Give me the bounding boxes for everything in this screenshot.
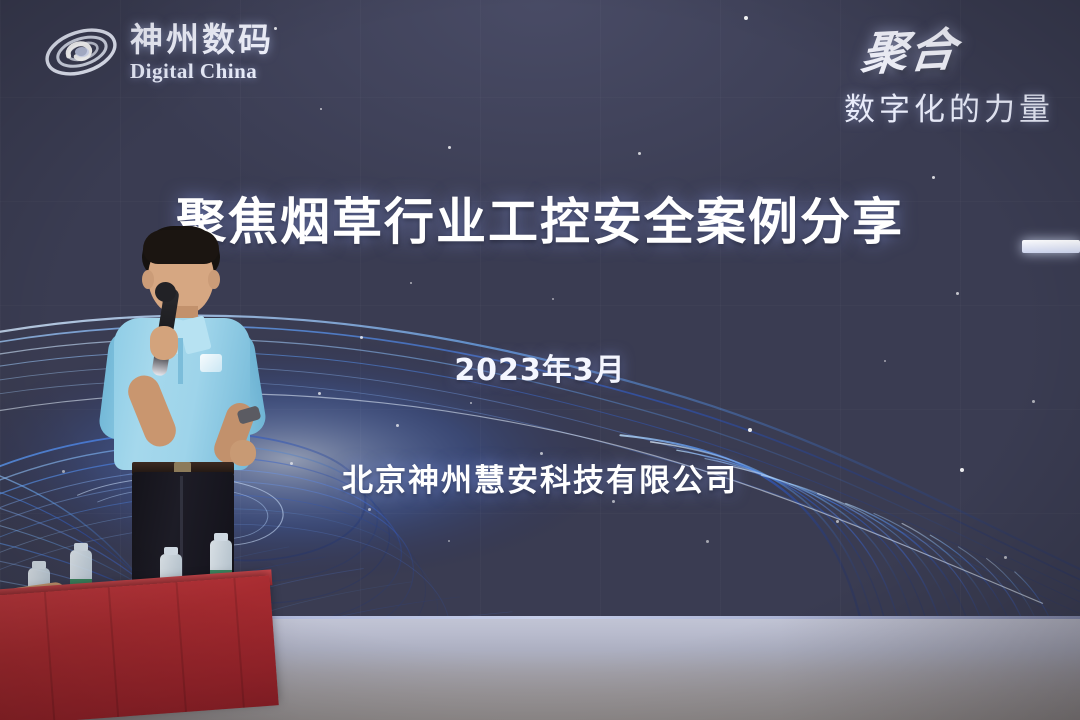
front-row-table: [0, 575, 279, 720]
slogan-brush-text: 聚合: [840, 13, 962, 85]
presenter-hand-right: [230, 440, 256, 466]
slogan-subtitle: 数字化的力量: [844, 84, 1054, 129]
presenter-ear-left: [142, 270, 154, 289]
presenter-hair-top: [143, 230, 219, 264]
presenter-ear-right: [208, 270, 220, 289]
presenter-hand-left: [150, 326, 178, 360]
digital-china-logo: 神州数码 Digital China: [42, 18, 274, 86]
event-slogan: 聚合 数字化的力量: [844, 16, 1054, 129]
digital-china-swirl-icon: [42, 18, 120, 86]
logo-name-cn: 神州数码: [130, 23, 274, 56]
slide-right-light-bar: [1022, 240, 1080, 253]
conference-photo: 神州数码 Digital China 聚合 数字化的力量 聚焦烟草行业工控安全案…: [0, 0, 1080, 720]
logo-name-en: Digital China: [130, 61, 274, 82]
presenter-placket: [178, 338, 183, 384]
presenter-chest-logo: [200, 354, 222, 372]
logo-wordmark: 神州数码 Digital China: [130, 23, 274, 82]
